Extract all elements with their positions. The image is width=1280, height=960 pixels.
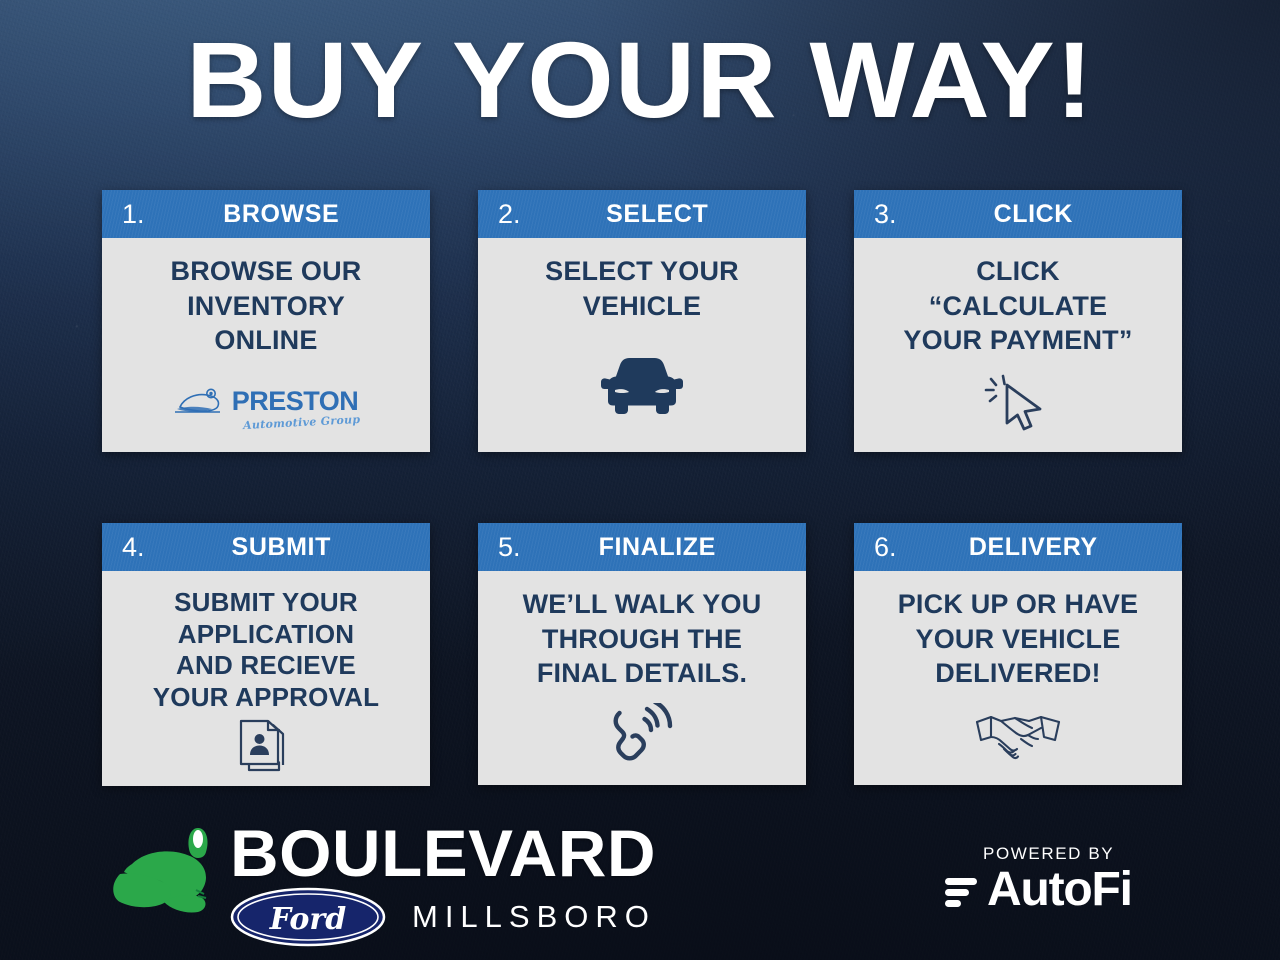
step-description: SELECT YOUR VEHICLE bbox=[545, 254, 739, 323]
dealer-name: BOULEVARD bbox=[230, 822, 664, 885]
step-card-click[interactable]: 3. CLICK CLICK “CALCULATE YOUR PAYMENT” bbox=[854, 190, 1182, 452]
step-card-header: 1. BROWSE bbox=[102, 190, 430, 238]
step-description-line: APPLICATION bbox=[153, 619, 380, 651]
steps-grid: 1. BROWSE BROWSE OUR INVENTORY ONLINE bbox=[102, 190, 1182, 785]
step-card-body: BROWSE OUR INVENTORY ONLINE bbox=[102, 238, 430, 452]
step-description-line: VEHICLE bbox=[545, 289, 739, 324]
step-card-body: PICK UP OR HAVE YOUR VEHICLE DELIVERED! bbox=[854, 571, 1182, 785]
step-description-line: THROUGH THE bbox=[523, 622, 762, 657]
ford-oval-logo: Ford bbox=[230, 887, 386, 947]
step-description: PICK UP OR HAVE YOUR VEHICLE DELIVERED! bbox=[898, 587, 1139, 691]
step-number: 1. bbox=[122, 201, 145, 228]
step-description-line: BROWSE OUR bbox=[171, 254, 362, 289]
step-description-line: AND RECIEVE bbox=[153, 650, 380, 682]
step-card-header: 6. DELIVERY bbox=[854, 523, 1182, 571]
step-label: SELECT bbox=[527, 202, 806, 227]
step-card-body: SUBMIT YOUR APPLICATION AND RECIEVE YOUR… bbox=[102, 571, 430, 786]
step-description-line: WE’LL WALK YOU bbox=[523, 587, 762, 622]
step-card-select[interactable]: 2. SELECT SELECT YOUR VEHICLE bbox=[478, 190, 806, 452]
step-description-line: YOUR APPROVAL bbox=[153, 682, 380, 714]
step-label: FINALIZE bbox=[527, 535, 806, 560]
step-card-header: 2. SELECT bbox=[478, 190, 806, 238]
step-number: 3. bbox=[874, 201, 897, 228]
step-description-line: SUBMIT YOUR bbox=[153, 587, 380, 619]
powered-by-label: POWERED BY bbox=[983, 844, 1132, 864]
step-number: 2. bbox=[498, 201, 521, 228]
step-card-body: SELECT YOUR VEHICLE bbox=[478, 238, 806, 452]
dealer-location: MILLSBORO bbox=[412, 899, 656, 935]
boulevard-ford-logo: BOULEVARD Ford MILLSBORO bbox=[110, 822, 656, 947]
step-description-line: SELECT YOUR bbox=[545, 254, 739, 289]
handshake-icon bbox=[866, 691, 1170, 775]
step-description-line: “CALCULATE bbox=[903, 289, 1132, 324]
step-card-browse[interactable]: 1. BROWSE BROWSE OUR INVENTORY ONLINE bbox=[102, 190, 430, 452]
step-description: SUBMIT YOUR APPLICATION AND RECIEVE YOUR… bbox=[153, 587, 380, 714]
page-title: BUY YOUR WAY! bbox=[0, 26, 1280, 134]
autofi-bars-icon bbox=[945, 870, 979, 910]
car-front-icon bbox=[490, 323, 794, 442]
step-description: WE’LL WALK YOU THROUGH THE FINAL DETAILS… bbox=[523, 587, 762, 691]
step-description-line: CLICK bbox=[903, 254, 1132, 289]
step-description-line: PICK UP OR HAVE bbox=[898, 587, 1139, 622]
step-label: CLICK bbox=[903, 202, 1182, 227]
step-description-line: YOUR PAYMENT” bbox=[903, 323, 1132, 358]
step-number: 6. bbox=[874, 534, 897, 561]
autofi-logo: POWERED BY AutoFi bbox=[945, 844, 1132, 914]
step-card-header: 5. FINALIZE bbox=[478, 523, 806, 571]
green-frog-logo bbox=[110, 822, 222, 930]
step-description: BROWSE OUR INVENTORY ONLINE bbox=[171, 254, 362, 358]
step-description-line: YOUR VEHICLE bbox=[898, 622, 1139, 657]
preston-tagline: Automotive Group bbox=[243, 414, 361, 431]
step-description-line: FINAL DETAILS. bbox=[523, 656, 762, 691]
step-card-finalize[interactable]: 5. FINALIZE WE’LL WALK YOU THROUGH THE F… bbox=[478, 523, 806, 785]
steps-row-bottom: 4. SUBMIT SUBMIT YOUR APPLICATION AND RE… bbox=[102, 523, 1182, 785]
step-description-line: DELIVERED! bbox=[898, 656, 1139, 691]
step-label: BROWSE bbox=[151, 202, 430, 227]
step-card-body: WE’LL WALK YOU THROUGH THE FINAL DETAILS… bbox=[478, 571, 806, 785]
footer: BOULEVARD Ford MILLSBORO POWERED BY bbox=[0, 810, 1280, 960]
step-number: 4. bbox=[122, 534, 145, 561]
ford-wordmark: Ford bbox=[269, 902, 346, 937]
step-card-delivery[interactable]: 6. DELIVERY PICK UP OR HAVE YOUR VEHICLE… bbox=[854, 523, 1182, 785]
step-card-submit[interactable]: 4. SUBMIT SUBMIT YOUR APPLICATION AND RE… bbox=[102, 523, 430, 785]
click-cursor-icon bbox=[866, 358, 1170, 442]
step-card-header: 4. SUBMIT bbox=[102, 523, 430, 571]
step-description-line: INVENTORY bbox=[171, 289, 362, 324]
step-card-header: 3. CLICK bbox=[854, 190, 1182, 238]
autofi-wordmark: AutoFi bbox=[987, 866, 1132, 914]
step-description-line: ONLINE bbox=[171, 323, 362, 358]
application-document-icon bbox=[114, 714, 418, 776]
step-label: DELIVERY bbox=[903, 535, 1182, 560]
step-card-body: CLICK “CALCULATE YOUR PAYMENT” bbox=[854, 238, 1182, 452]
preston-frog-icon bbox=[174, 385, 228, 419]
step-label: SUBMIT bbox=[151, 535, 430, 560]
steps-row-top: 1. BROWSE BROWSE OUR INVENTORY ONLINE bbox=[102, 190, 1182, 452]
preston-automotive-group-logo: PRESTON Automotive Group bbox=[114, 358, 418, 442]
preston-wordmark: PRESTON Automotive Group bbox=[232, 388, 359, 415]
step-description: CLICK “CALCULATE YOUR PAYMENT” bbox=[903, 254, 1132, 358]
phone-ringing-icon bbox=[490, 691, 794, 775]
step-number: 5. bbox=[498, 534, 521, 561]
